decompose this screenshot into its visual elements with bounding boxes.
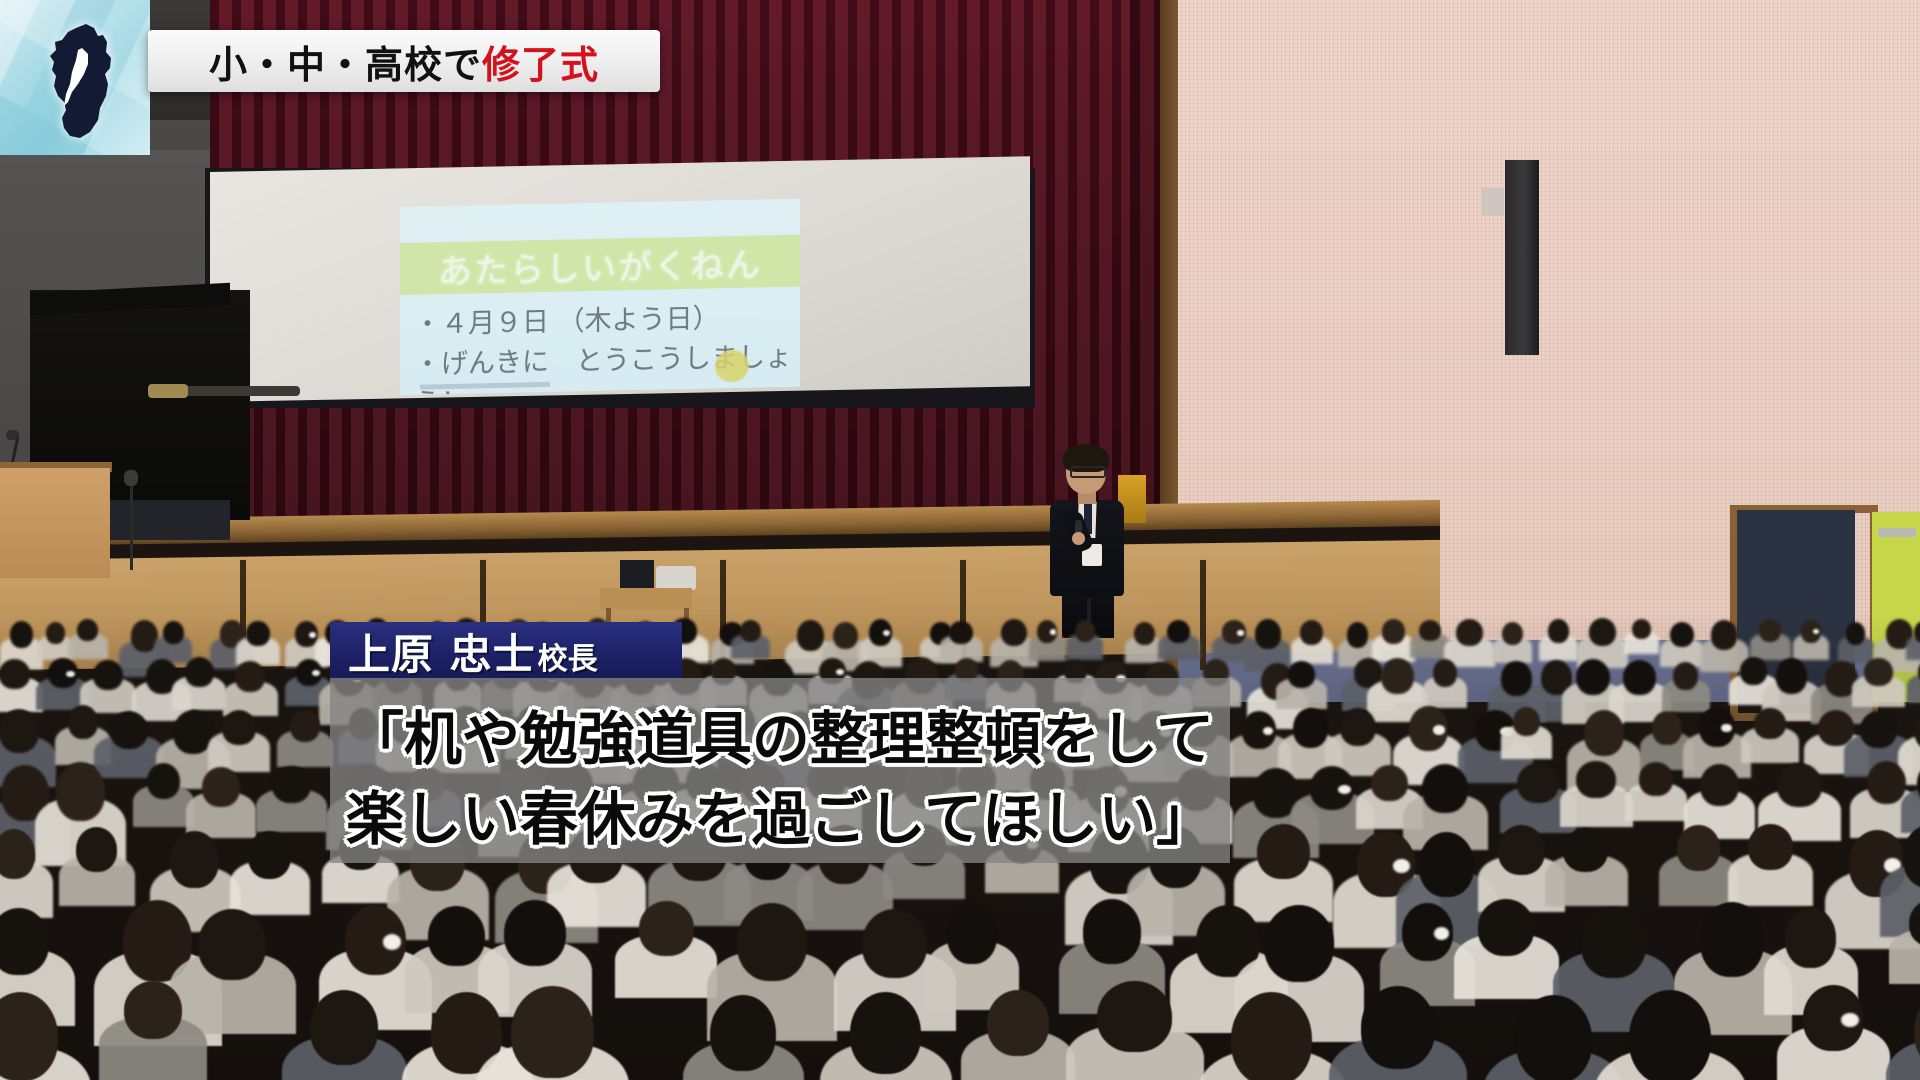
audience-member-head: [124, 981, 182, 1039]
audience-member-head: [1264, 905, 1334, 983]
audience-member-head: [77, 619, 98, 641]
audience-member-head: [1576, 659, 1610, 696]
audience-member-head: [1456, 619, 1484, 646]
microphone-icon: [124, 470, 138, 486]
shiga-prefecture-map-icon: [42, 22, 114, 140]
audio-amplifier: [95, 500, 230, 540]
audience-member-head: [1001, 619, 1027, 647]
audience-member-head: [1740, 657, 1767, 684]
speaker-title: 校長: [538, 634, 598, 678]
hair-tie-accessory: [1050, 629, 1056, 634]
audience-member-head: [1623, 660, 1657, 695]
audience-member-head: [740, 620, 761, 642]
audience-member-head: [1589, 618, 1616, 646]
audience-member-head: [1629, 990, 1712, 1080]
audience-member-head: [1711, 620, 1737, 649]
audience-member-head: [639, 901, 694, 955]
audience-member-head: [272, 766, 310, 803]
audience-member-head: [1700, 902, 1764, 977]
audience-member-head: [1754, 708, 1785, 739]
audience-member-head: [1300, 620, 1323, 645]
audience-member-head: [248, 831, 291, 878]
audience-member-head: [1382, 619, 1405, 643]
hair-tie-accessory: [1338, 785, 1351, 795]
audience-member-head: [1759, 619, 1781, 642]
projector-slide: あたらしいがくねん ・４月９日 （木よう日） ・げんきに とうこうしましょう！: [400, 199, 800, 395]
headline-text: 小・中・高校で修了式: [209, 34, 599, 89]
headline-banner: 小・中・高校で修了式: [148, 30, 660, 92]
audience-member-head: [1777, 763, 1822, 807]
audience-member-head: [428, 906, 485, 966]
audience-member-head: [1231, 992, 1312, 1080]
news-video-frame: あたらしいがくねん ・４月９日 （木よう日） ・げんきに とうこうしましょう！: [0, 0, 1920, 1080]
audience-member-head: [1083, 899, 1140, 964]
audience-member-head: [1632, 619, 1651, 639]
audience-member-head: [110, 711, 148, 749]
audience-member-head: [222, 710, 256, 745]
audience-member-head: [76, 827, 117, 872]
audience-member-head: [833, 622, 858, 650]
audience-member-head: [1563, 828, 1608, 872]
audience-member-head: [1097, 981, 1172, 1052]
audience-member-head: [1371, 765, 1407, 802]
audience-member-head: [1864, 658, 1893, 686]
audience-member-head: [1419, 832, 1474, 897]
microphone-icon-small: [6, 430, 19, 440]
audience-member-head: [862, 909, 928, 978]
hair-tie-accessory: [1841, 1013, 1859, 1027]
audience-member-head: [1785, 907, 1836, 968]
station-logo-badge: [0, 0, 150, 155]
audience-member-head: [198, 909, 266, 980]
audience-member-head: [710, 995, 776, 1072]
audience-member-head: [1381, 658, 1414, 694]
audience-member-head: [93, 660, 123, 690]
audience-member-head: [1347, 622, 1369, 648]
slide-title-text: あたらしいがくねん: [438, 237, 762, 293]
audience-member-head: [1513, 707, 1541, 736]
audience-member-head: [246, 621, 270, 646]
broadcast-frame: あたらしいがくねん ・４月９日 （木よう日） ・げんきに とうこうしましょう！: [0, 0, 1920, 1080]
audience-member-head: [1293, 708, 1328, 748]
principal-speaker: [1042, 448, 1142, 638]
audience-member-head: [0, 659, 30, 689]
av-equipment-box: [620, 560, 654, 590]
audience-member-head: [1498, 825, 1545, 874]
audience-member-head: [235, 661, 265, 692]
audience-member-head: [1846, 622, 1865, 645]
audience-member-head: [504, 900, 566, 966]
audience-member-head: [1670, 622, 1694, 648]
nameplate-content: 上原 忠士 校長: [330, 621, 598, 682]
audience-member-head: [949, 621, 972, 644]
speaker-hand: [1072, 532, 1085, 545]
equipment-table: [600, 588, 692, 610]
audience-member-head: [0, 829, 35, 879]
stage-cable-connector: [148, 384, 188, 398]
hair-tie-accessory: [312, 670, 320, 676]
audience-member-head: [1134, 622, 1155, 645]
audience-member-head: [1422, 764, 1468, 812]
audience-member-head: [290, 710, 320, 742]
audience-member-head: [68, 705, 98, 739]
door-push-bar: [1878, 528, 1916, 537]
audience-member-head: [1502, 622, 1523, 645]
audience-member-head: [202, 767, 240, 807]
speaker-mount-bracket: [1482, 188, 1504, 216]
audience-member-head: [987, 990, 1049, 1055]
wooden-podium: [0, 468, 110, 578]
stage-cable-tray: [180, 386, 300, 396]
audience-member-head: [10, 621, 33, 648]
audience-member-head: [1340, 708, 1376, 747]
audience-member-head: [310, 990, 378, 1065]
audience-member-head: [1361, 986, 1435, 1069]
audience-member-head: [1433, 659, 1457, 687]
quote-line-2: 楽しい春休みを過ごしてほしい」: [330, 772, 1230, 856]
audience-member-head: [185, 657, 214, 687]
microphone-stand: [130, 478, 133, 570]
audience-member-head: [1867, 761, 1906, 805]
wall-speaker-icon: [1505, 160, 1539, 355]
audience-member-head: [1516, 995, 1593, 1080]
audience-member-head: [1419, 620, 1441, 641]
audience-member-head: [1167, 620, 1190, 643]
audience-member-head: [1776, 658, 1808, 693]
speaker-nameplate: 上原 忠士 校長: [330, 622, 682, 680]
headline-prefix: 小・中・高校で: [209, 43, 482, 87]
headline-highlight: 修了式: [482, 43, 599, 87]
speaker-name: 上原 忠士: [348, 621, 536, 682]
audience-member-head: [1576, 761, 1615, 798]
hair-tie-accessory: [309, 632, 316, 638]
audience-member-head: [1673, 662, 1699, 690]
audience-member-head: [1288, 661, 1315, 688]
audience-member-head: [947, 903, 998, 963]
audience-member: [1907, 674, 1920, 702]
audience-member-head: [1652, 711, 1681, 745]
av-equipment-white: [656, 566, 696, 590]
slide-title-band: あたらしいがくねん: [400, 235, 800, 295]
slide-bullet-1: ・４月９日 （木よう日）: [414, 296, 720, 341]
eyeglasses-icon: [1070, 466, 1106, 478]
hair-tie-accessory: [836, 669, 844, 675]
audience-member-head: [1075, 620, 1095, 643]
audience-member-head: [1700, 764, 1738, 807]
hair-tie-accessory: [383, 934, 401, 950]
quote-line-1: 「机や勉強道具の整理整頓をして: [330, 692, 1230, 776]
audience-member-head: [1548, 619, 1569, 643]
audience-member-head: [163, 621, 184, 645]
audience-member-head: [1257, 824, 1310, 879]
audience-member-head: [850, 992, 921, 1074]
audience-member-head: [0, 709, 39, 753]
audience-member-head: [1639, 762, 1672, 796]
audience-member-head: [1584, 710, 1625, 756]
audience-member-head: [1517, 763, 1558, 803]
audience-member-head: [147, 763, 180, 799]
audience-member-head: [56, 762, 105, 821]
quote-caption-box: 「机や勉強道具の整理整頓をして 楽しい春休みを過ごしてほしい」: [330, 678, 1230, 863]
audience-member-head: [1255, 619, 1281, 649]
hair-tie-accessory: [1237, 630, 1244, 635]
audience-member-head: [1581, 907, 1646, 977]
hair-tie-accessory: [1433, 725, 1445, 735]
audience-member-head: [173, 710, 213, 755]
audience-member-head: [737, 903, 807, 981]
audience-member-head: [1677, 825, 1720, 870]
hair-tie-accessory: [1434, 927, 1449, 940]
audience-member-head: [1501, 661, 1532, 695]
audience-member-head: [170, 831, 219, 888]
audience-member-head: [797, 620, 824, 650]
audience-member-head: [1748, 824, 1794, 870]
audience-member-head: [1860, 711, 1897, 748]
audience-member-head: [46, 622, 65, 644]
audience-member-head: [1478, 899, 1535, 955]
audience-member-head: [511, 986, 593, 1078]
